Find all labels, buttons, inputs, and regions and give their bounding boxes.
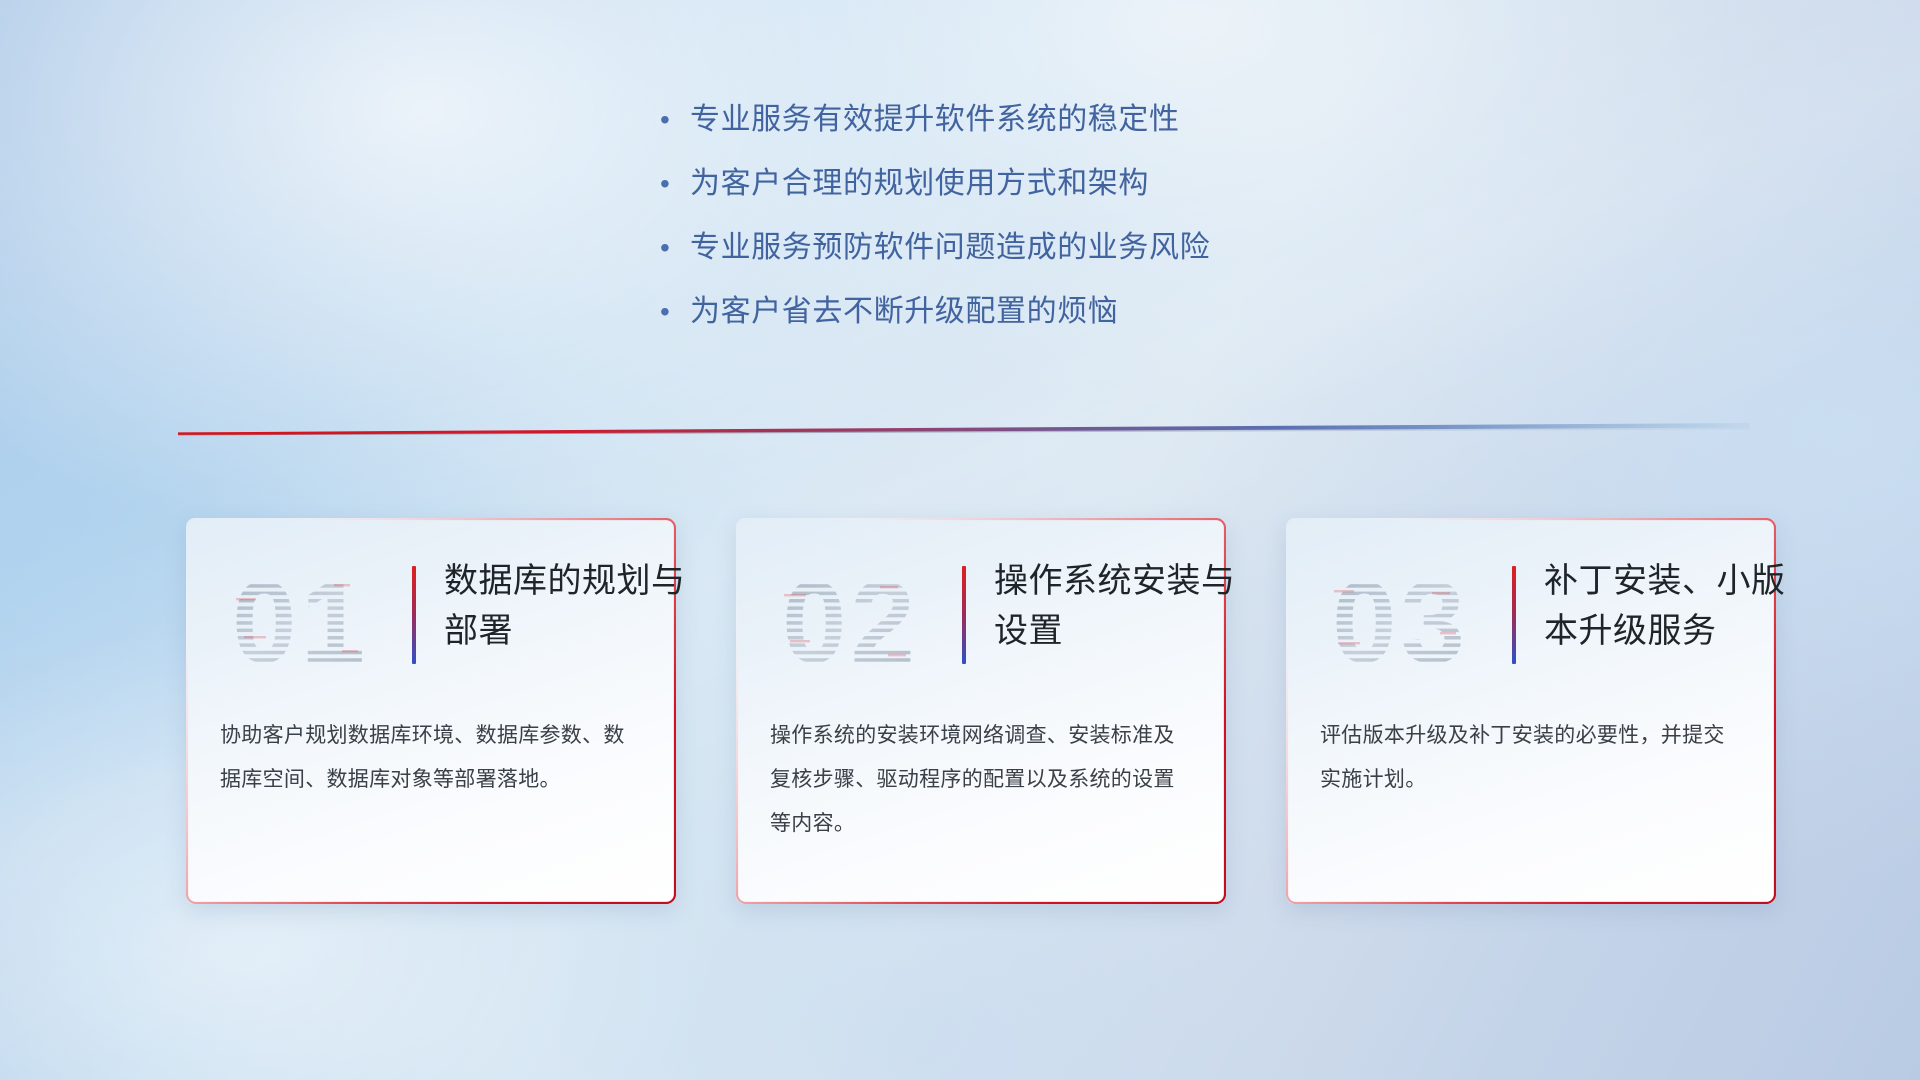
card-description: 操作系统的安装环境网络调查、安装标准及复核步骤、驱动程序的配置以及系统的设置等内… <box>770 714 1194 846</box>
bullet-item-label: 专业服务有效提升软件系统的稳定性 <box>690 100 1180 140</box>
card-title: 数据库的规划与部署 <box>444 556 694 656</box>
bullet-item: • 专业服务预防软件问题造成的业务风险 <box>660 228 1440 292</box>
bullet-point-icon: • <box>660 100 690 140</box>
card-content: 02 操作系统安装与设置 操作系统的安装环境网络调查、安装标准及复核步骤、驱动程… <box>736 518 1226 904</box>
service-card[interactable]: 01 数据库的规划与部署 协助客户规划数据库环境、数据库参数、数据库空间、数据库… <box>186 518 676 904</box>
svg-text:03: 03 <box>1332 562 1469 680</box>
svg-text:01: 01 <box>232 562 369 680</box>
service-card-row: 01 数据库的规划与部署 协助客户规划数据库环境、数据库参数、数据库空间、数据库… <box>186 518 1916 906</box>
bullet-item: • 为客户省去不断升级配置的烦恼 <box>660 292 1440 356</box>
card-number-watermark: 01 <box>230 562 390 680</box>
card-title-accent-rule <box>412 566 416 664</box>
bullet-item: • 专业服务有效提升软件系统的稳定性 <box>660 100 1440 164</box>
card-description: 评估版本升级及补丁安装的必要性，并提交实施计划。 <box>1320 714 1744 802</box>
card-content: 03 补丁安装、小版本升级服务 评估版本升级及补丁安装的必要性，并提交实施计划。 <box>1286 518 1776 904</box>
bullet-point-icon: • <box>660 164 690 204</box>
service-card[interactable]: 03 补丁安装、小版本升级服务 评估版本升级及补丁安装的必要性，并提交实施计划。 <box>1286 518 1776 904</box>
card-title-accent-rule <box>1512 566 1516 664</box>
benefit-bullet-list: • 专业服务有效提升软件系统的稳定性 • 为客户合理的规划使用方式和架构 • 专… <box>660 100 1440 356</box>
card-header: 03 补丁安装、小版本升级服务 <box>1320 554 1742 686</box>
svg-text:02: 02 <box>782 562 919 680</box>
tapered-accent-divider <box>178 422 1750 436</box>
card-header: 01 数据库的规划与部署 <box>220 554 642 686</box>
slide-root: • 专业服务有效提升软件系统的稳定性 • 为客户合理的规划使用方式和架构 • 专… <box>0 0 1920 1080</box>
card-content: 01 数据库的规划与部署 协助客户规划数据库环境、数据库参数、数据库空间、数据库… <box>186 518 676 904</box>
bullet-point-icon: • <box>660 292 690 332</box>
card-title: 补丁安装、小版本升级服务 <box>1544 556 1794 656</box>
bullet-item: • 为客户合理的规划使用方式和架构 <box>660 164 1440 228</box>
card-number-watermark: 02 <box>780 562 940 680</box>
bullet-item-label: 专业服务预防软件问题造成的业务风险 <box>690 228 1210 268</box>
card-title: 操作系统安装与设置 <box>994 556 1244 656</box>
card-header: 02 操作系统安装与设置 <box>770 554 1192 686</box>
service-card[interactable]: 02 操作系统安装与设置 操作系统的安装环境网络调查、安装标准及复核步骤、驱动程… <box>736 518 1226 904</box>
card-description: 协助客户规划数据库环境、数据库参数、数据库空间、数据库对象等部署落地。 <box>220 714 644 802</box>
bullet-point-icon: • <box>660 228 690 268</box>
card-title-accent-rule <box>962 566 966 664</box>
bullet-item-label: 为客户合理的规划使用方式和架构 <box>690 164 1149 204</box>
card-number-watermark: 03 <box>1330 562 1490 680</box>
bullet-item-label: 为客户省去不断升级配置的烦恼 <box>690 292 1118 332</box>
